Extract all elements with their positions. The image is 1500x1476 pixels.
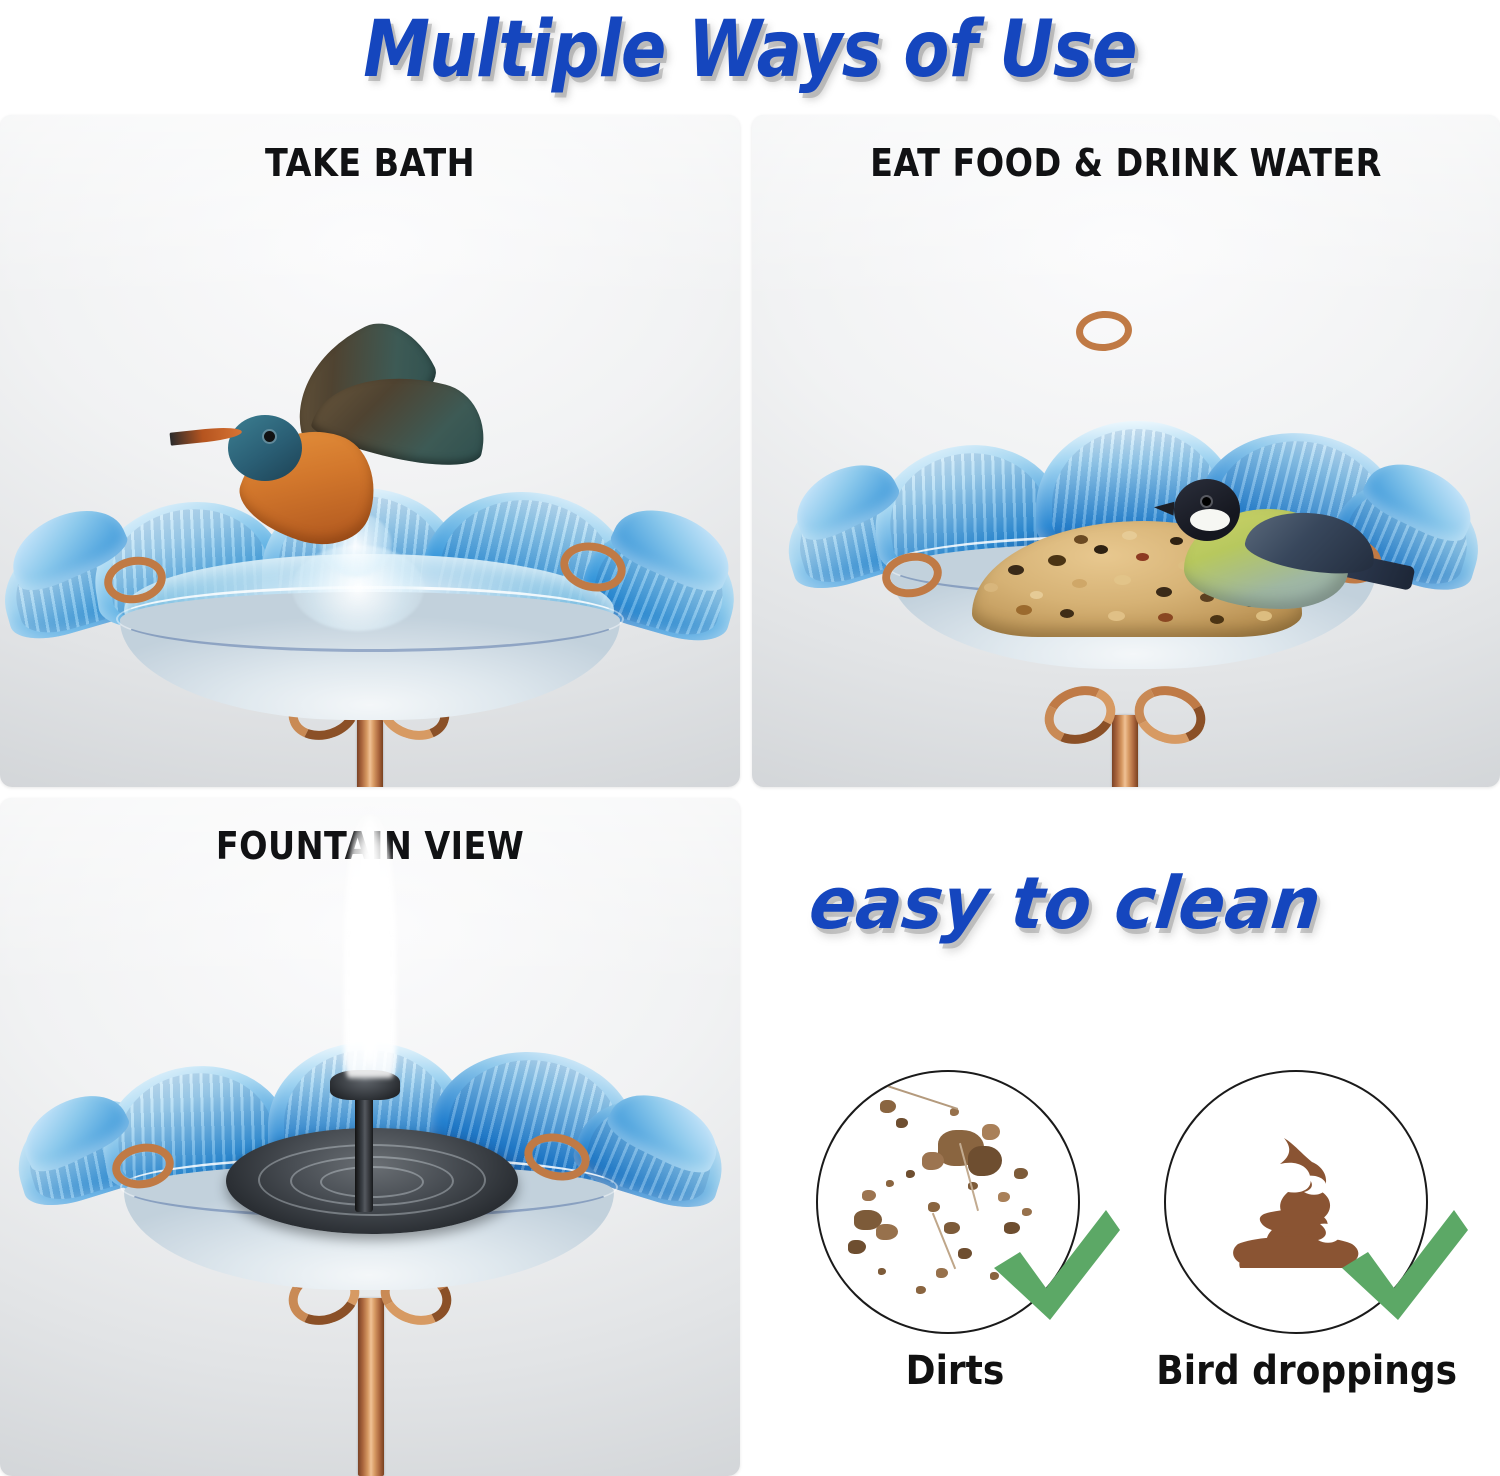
stand-scroll-right [1127,677,1213,753]
great-tit-bill [1154,500,1175,515]
kingfisher-bird [180,333,510,573]
kingfisher-head [228,415,302,481]
panel-title-take-bath: TAKE BATH [44,141,695,185]
dirts-label: Dirts [817,1348,1092,1394]
bird-droppings-check-icon [1336,1206,1470,1324]
great-tit-eye [1202,497,1211,506]
bowl-handle-top [1075,309,1134,353]
easy-to-clean-section: easy to clean [752,798,1500,1476]
fountain-stem [355,1088,373,1212]
panel-title-eat-food: EAT FOOD & DRINK WATER [797,141,1455,185]
stand-pole [358,1298,384,1476]
take-bath-illustration [0,115,740,787]
clean-item-dirts: Dirts [802,1070,1108,1440]
page-title: Multiple Ways of Use [105,2,1395,98]
kingfisher-eye [264,431,275,442]
eat-food-illustration [752,115,1500,787]
infographic-canvas: Multiple Ways of Use TAKE BATH [0,0,1500,1476]
stand-pole [1112,715,1138,787]
fountain-water-jet-core [358,816,382,1066]
clean-item-bird-droppings: Bird droppings [1140,1070,1466,1440]
great-tit-cheek [1190,509,1230,531]
stand-pole [357,711,383,787]
great-tit-bird [1150,473,1410,643]
panel-take-bath: TAKE BATH [0,115,740,787]
easy-to-clean-headline: easy to clean [805,860,1324,946]
bird-droppings-label: Bird droppings [1156,1348,1449,1394]
stand-scroll-left [1037,677,1123,753]
fountain-view-illustration [0,798,740,1476]
dirts-check-icon [988,1206,1122,1324]
panel-eat-food: EAT FOOD & DRINK WATER [752,115,1500,787]
panel-fountain-view: FOUNTAIN VIEW [0,798,740,1476]
